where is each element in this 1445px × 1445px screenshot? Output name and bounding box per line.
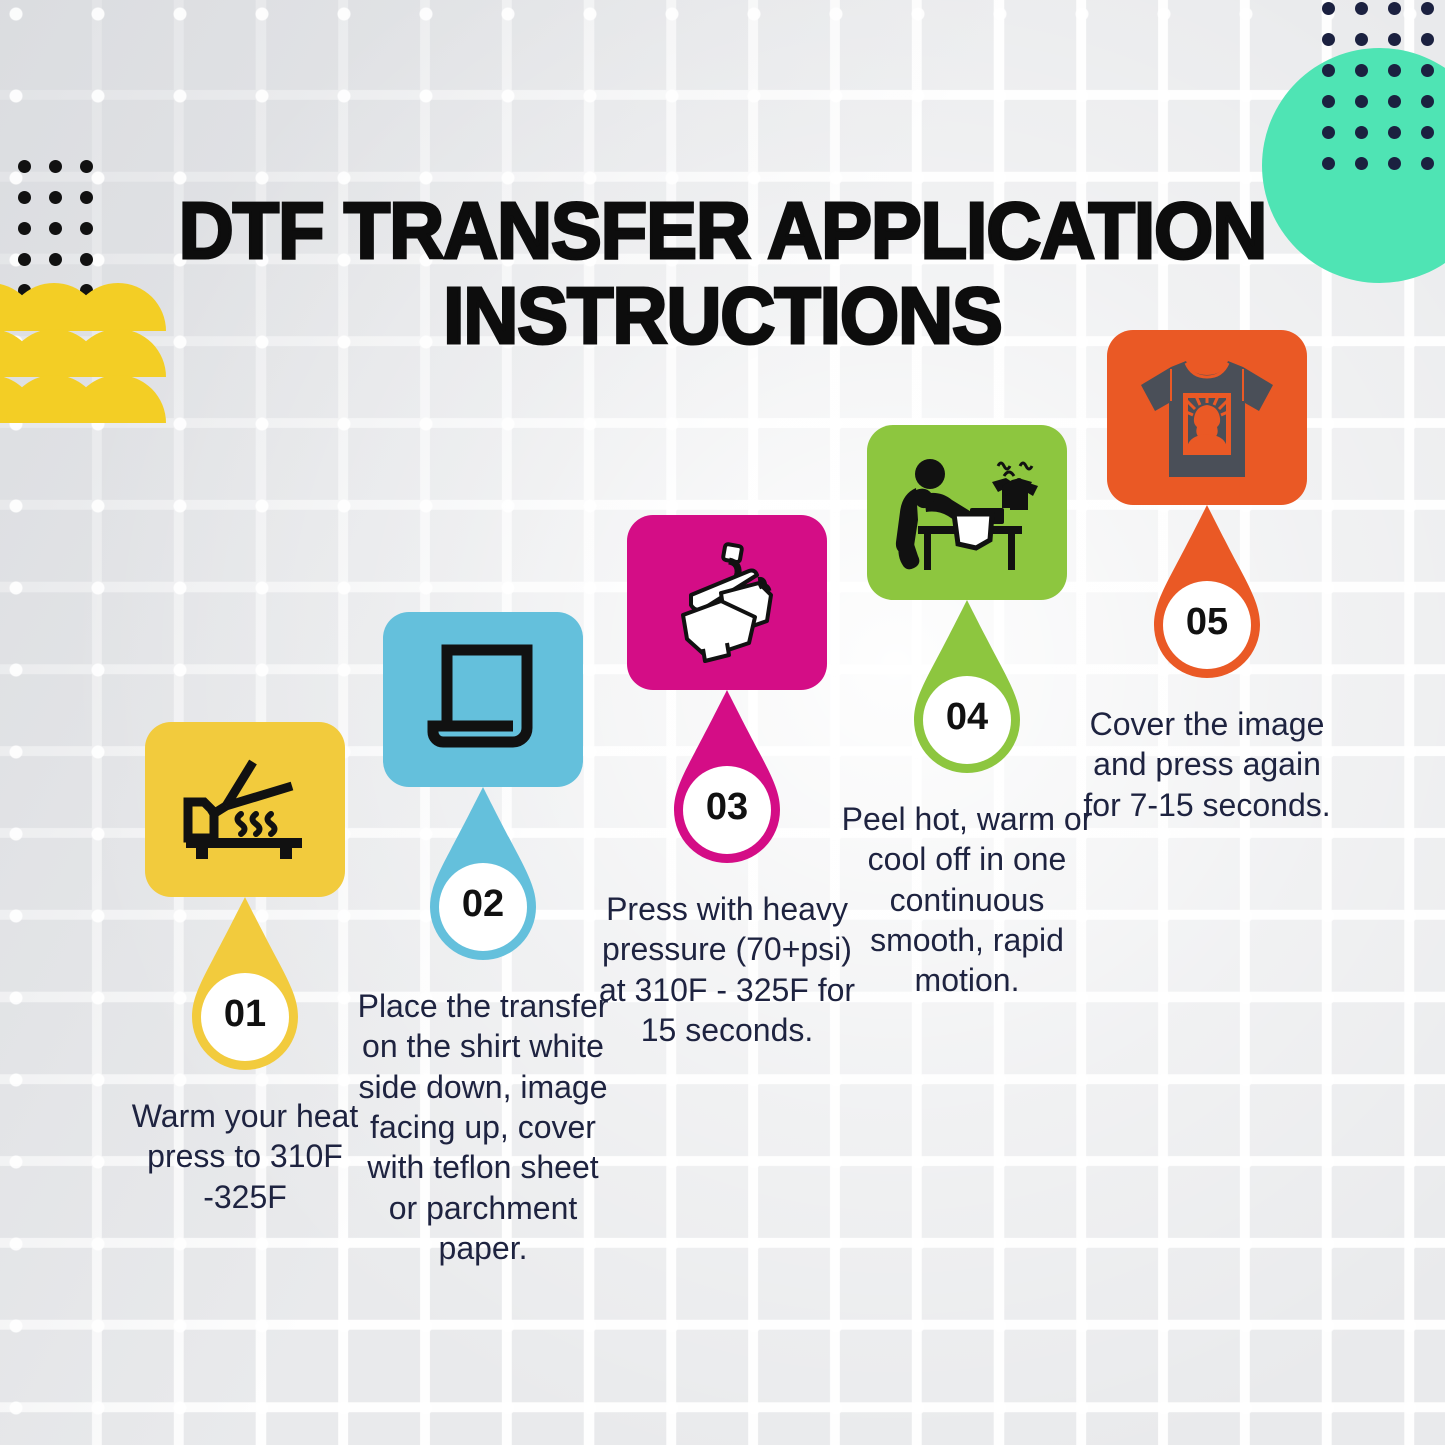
step-01-number: 01 [110, 993, 380, 1036]
step-03-pin: 03 [592, 690, 862, 875]
step-04-number: 04 [832, 696, 1102, 739]
step-03-number: 03 [592, 786, 862, 829]
step-item-03: 03 Press with heavy pressure (70+psi) at… [592, 515, 862, 1050]
step-02-pin: 02 [348, 787, 618, 972]
step-04-pin: 04 [832, 600, 1102, 785]
step-item-05: 05 Cover the image and press again for 7… [1072, 330, 1342, 825]
step-05-caption: Cover the image and press again for 7-15… [1072, 704, 1342, 825]
step-04-caption: Peel hot, warm or cool off in one contin… [832, 799, 1102, 1001]
steps-container: 01 Warm your heat press to 310F -325F 02… [0, 0, 1445, 1445]
step-item-04: 04 Peel hot, warm or cool off in one con… [832, 425, 1102, 1001]
step-item-01: 01 Warm your heat press to 310F -325F [110, 722, 380, 1217]
heat-press-open-icon [180, 758, 310, 862]
step-05-number: 05 [1072, 601, 1342, 644]
transfer-sheet-icon [425, 642, 541, 758]
step-02-tile[interactable] [383, 612, 583, 787]
step-05-pin: 05 [1072, 505, 1342, 690]
step-01-pin: 01 [110, 897, 380, 1082]
step-02-number: 02 [348, 883, 618, 926]
step-03-caption: Press with heavy pressure (70+psi) at 31… [592, 889, 862, 1050]
step-02-caption: Place the transfer on the shirt white si… [348, 986, 618, 1268]
step-03-tile[interactable] [627, 515, 827, 690]
heat-press-machine-icon [663, 539, 791, 667]
peel-transfer-person-icon [894, 452, 1040, 574]
step-05-tile[interactable] [1107, 330, 1307, 505]
step-item-02: 02 Place the transfer on the shirt white… [348, 612, 618, 1268]
step-04-tile[interactable] [867, 425, 1067, 600]
printed-tshirt-icon [1137, 353, 1277, 483]
step-01-tile[interactable] [145, 722, 345, 897]
step-01-caption: Warm your heat press to 310F -325F [110, 1096, 380, 1217]
